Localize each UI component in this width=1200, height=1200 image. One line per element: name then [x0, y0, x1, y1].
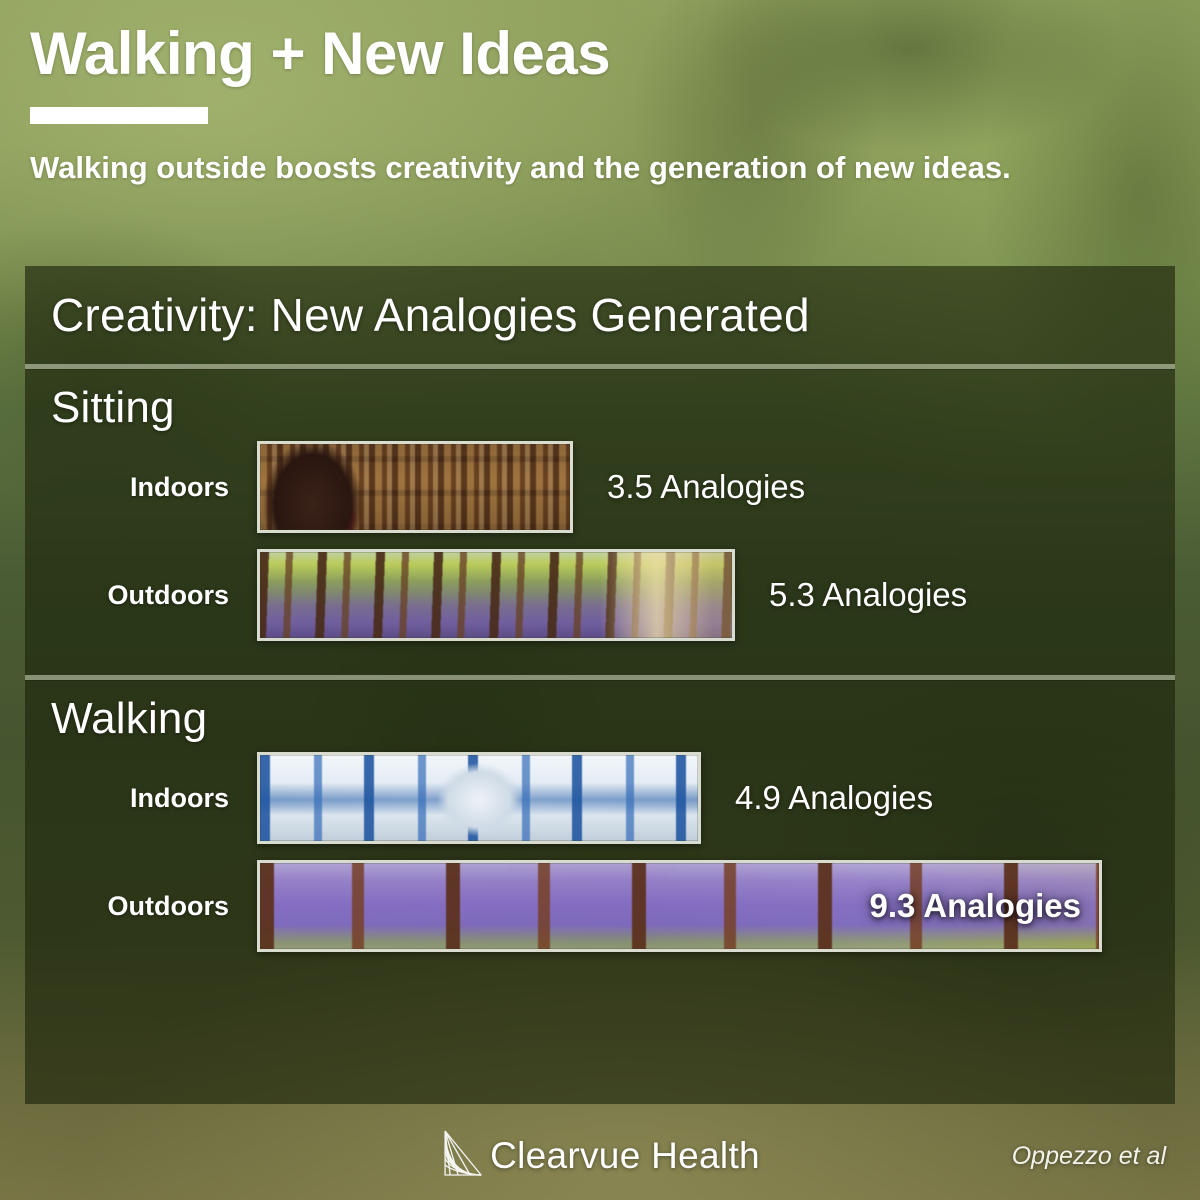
- brand-lockup[interactable]: Clearvue Health: [440, 1128, 760, 1185]
- row-label-sitting-outdoors: Outdoors: [25, 580, 257, 611]
- source-citation: Oppezzo et al: [1012, 1142, 1166, 1171]
- group-label-sitting: Sitting: [25, 369, 1175, 437]
- chart-title: Creativity: New Analogies Generated: [25, 266, 1175, 364]
- bar-value-sitting-outdoors: 5.3 Analogies: [769, 576, 967, 614]
- row-label-walking-outdoors: Outdoors: [25, 891, 257, 922]
- bar-value-sitting-indoors: 3.5 Analogies: [607, 468, 805, 506]
- bar-walking-outdoors[interactable]: 9.3 Analogies: [257, 860, 1102, 952]
- page-subtitle: Walking outside boosts creativity and th…: [30, 146, 1130, 191]
- row-label-walking-indoors: Indoors: [25, 783, 257, 814]
- clearvue-web-logo-icon: [440, 1128, 484, 1185]
- group-rows-walking: Indoors 4.9 Analogies Outdoors 9.3 Analo…: [25, 748, 1175, 986]
- chart-row-walking-outdoors: Outdoors 9.3 Analogies: [25, 860, 1175, 952]
- bar-value-walking-indoors: 4.9 Analogies: [735, 779, 933, 817]
- chart-row-sitting-outdoors: Outdoors 5.3 Analogies: [25, 549, 1175, 641]
- title-underline-rule: [30, 107, 208, 124]
- chart-group-walking: Walking Indoors 4.9 Analogies Outdoors 9…: [25, 680, 1175, 986]
- bar-image-bluebell-forest-path: [260, 552, 732, 638]
- bar-image-woman-reading-in-library: [260, 444, 570, 530]
- footer: Clearvue Health Oppezzo et al: [0, 1112, 1200, 1200]
- bar-image-hospital-corridor: [260, 755, 698, 841]
- chart-group-sitting: Sitting Indoors 3.5 Analogies Outdoors 5…: [25, 369, 1175, 675]
- header: Walking + New Ideas Walking outside boos…: [0, 0, 1200, 191]
- infographic-canvas: Walking + New Ideas Walking outside boos…: [0, 0, 1200, 1200]
- bar-sitting-indoors[interactable]: [257, 441, 573, 533]
- page-title: Walking + New Ideas: [30, 22, 1170, 85]
- chart-panel: Creativity: New Analogies Generated Sitt…: [25, 266, 1175, 1104]
- bar-value-walking-outdoors: 9.3 Analogies: [869, 887, 1081, 925]
- chart-row-walking-indoors: Indoors 4.9 Analogies: [25, 752, 1175, 844]
- bar-sitting-outdoors[interactable]: [257, 549, 735, 641]
- brand-name: Clearvue Health: [490, 1135, 760, 1177]
- group-label-walking: Walking: [25, 680, 1175, 748]
- bar-walking-indoors[interactable]: [257, 752, 701, 844]
- chart-row-sitting-indoors: Indoors 3.5 Analogies: [25, 441, 1175, 533]
- group-rows-sitting: Indoors 3.5 Analogies Outdoors 5.3 Analo…: [25, 437, 1175, 675]
- row-label-sitting-indoors: Indoors: [25, 472, 257, 503]
